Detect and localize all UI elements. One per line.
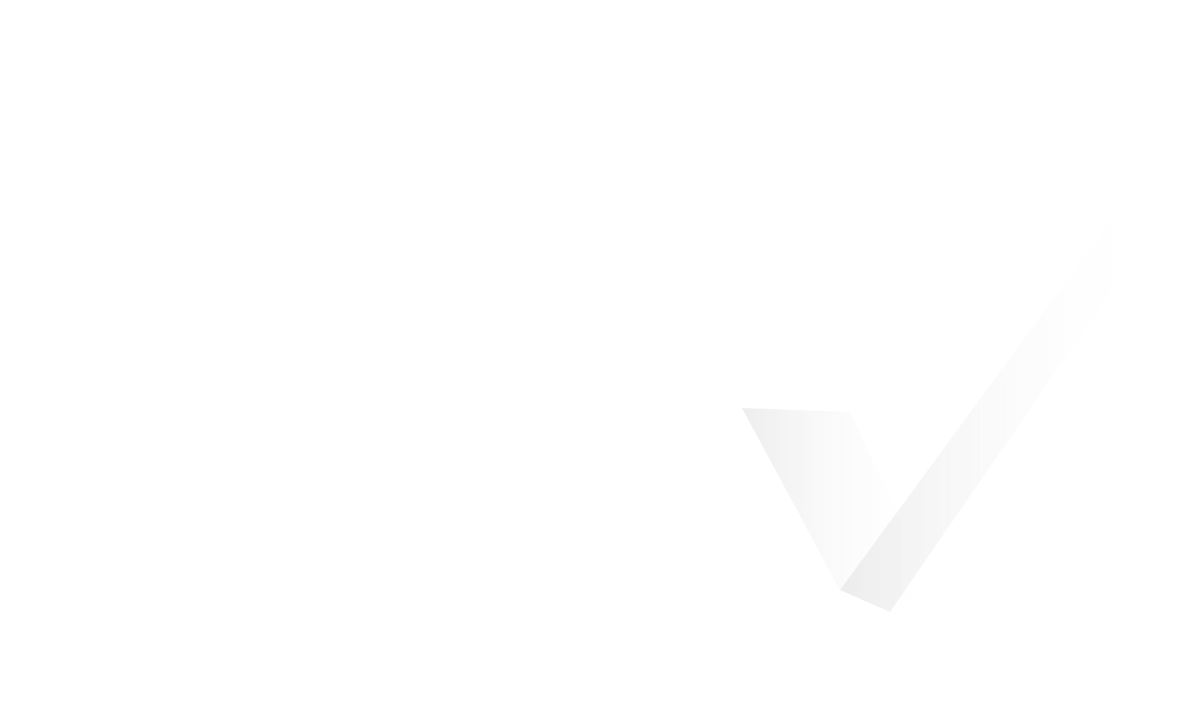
title-block xyxy=(72,222,692,244)
crowd-shadow xyxy=(742,208,1160,612)
crowd-checkmark-illustration xyxy=(690,150,1170,640)
crowd-svg xyxy=(690,150,1170,640)
poster-canvas xyxy=(0,0,1200,704)
taxmann-logo xyxy=(942,46,1152,72)
